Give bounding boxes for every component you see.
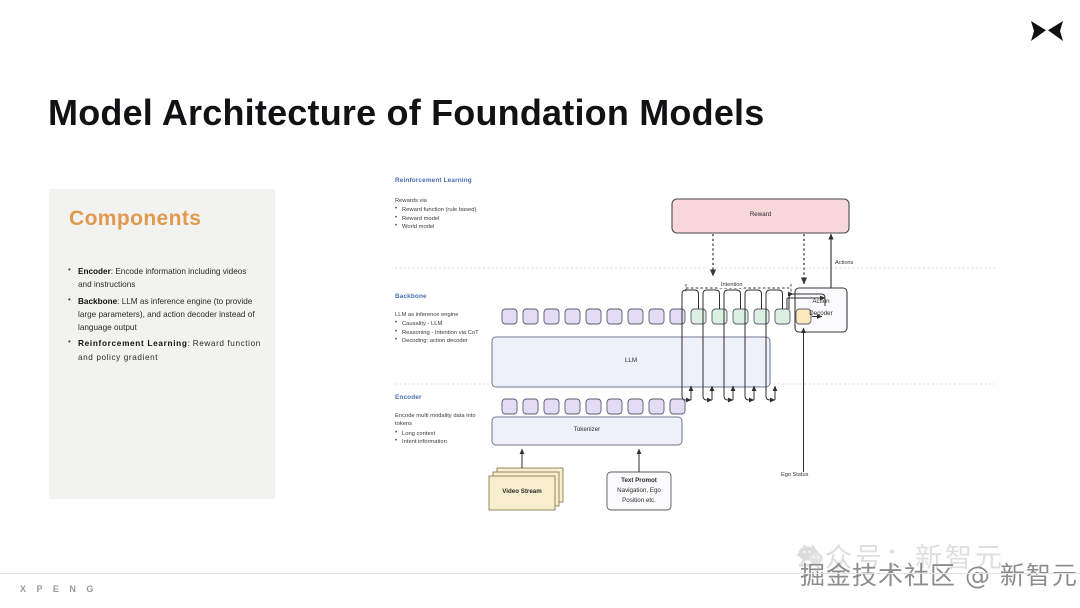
section-label-reinforcement-learning: Reinforcement Learning [395,177,472,184]
token-green-top-2 [712,309,727,324]
token-purple-bottom-8 [649,399,664,414]
rl-bullet-3: World model [395,223,491,231]
components-card: Components Encoder: Encode information i… [49,189,275,499]
reward-box-label: Reward [672,211,849,219]
token-purple-bottom-7 [628,399,643,414]
token-purple-top-6 [607,309,622,324]
token-purple-top-5 [586,309,601,324]
backbone-bullet-2: Reasoning - Intention via CoT [395,329,491,337]
video-stream-label: Video Stream [489,488,555,496]
text-prompt-line1: Navigation, Ego [607,487,671,495]
components-item-encoder: Encoder: Encode information including vi… [67,265,262,292]
backbone-bullet-3: Decoding: action decoder [395,337,491,345]
components-item-reinforcement-learning: Reinforcement Learning: Reward function … [67,337,262,364]
intention-label: Intention [719,282,744,288]
slide-canvas: Model Architecture of Foundation Models … [0,0,1080,608]
rl-bullet-2: Reward model [395,215,491,223]
architecture-diagram: Reinforcement Learning Rewards via Rewar… [395,172,995,524]
ego-status-label: Ego Status [781,472,808,478]
section-label-encoder: Encoder [395,394,422,401]
token-purple-bottom-2 [523,399,538,414]
action-decoder-label-line2: Decoder [795,310,847,318]
encoder-intro: Encode multi modality data into tokens [395,412,491,429]
action-decoder-label-line1: Action [795,298,847,306]
components-item-backbone: Backbone: LLM as inference engine (to pr… [67,295,262,335]
token-green-top-5 [775,309,790,324]
text-prompt-line2: Position etc. [607,497,671,505]
section-body-reinforcement-learning: Rewards via Reward function (rule based)… [395,197,491,232]
rl-intro: Rewards via [395,197,491,205]
token-purple-bottom-9 [670,399,685,414]
section-body-encoder: Encode multi modality data into tokens L… [395,412,491,447]
page-title: Model Architecture of Foundation Models [48,92,764,134]
llm-box-label: LLM [492,357,770,365]
token-green-top-3 [733,309,748,324]
token-purple-top-9 [670,309,685,324]
token-green-top-4 [754,309,769,324]
components-list: Encoder: Encode information including vi… [67,265,262,367]
components-term-backbone: Backbone [78,297,117,306]
token-purple-bottom-1 [502,399,517,414]
section-body-backbone: LLM as inference engine Causality - LLM … [395,311,491,346]
components-heading: Components [69,207,201,231]
section-label-backbone: Backbone [395,293,427,300]
components-term-encoder: Encoder [78,267,111,276]
spacer14 [785,294,791,309]
token-purple-bottom-4 [565,399,580,414]
xpeng-x-logo-icon [1030,18,1064,44]
token-purple-top-8 [649,309,664,324]
encoder-bullet-2: Intent information [395,438,491,446]
watermark-bold: 掘金技术社区 @ 新智元 [800,556,1078,592]
token-purple-bottom-3 [544,399,559,414]
components-term-reinforcement-learning: Reinforcement Learning [78,339,188,348]
backbone-bullet-1: Causality - LLM [395,320,491,328]
xpeng-footer-logo: X P E N G [20,584,97,594]
token-green-top-1 [691,309,706,324]
footer-divider [0,573,1080,574]
token-purple-top-7 [628,309,643,324]
tokenizer-box-label: Tokenizer [492,426,682,434]
text-prompt-title: Text Promot [607,477,671,485]
actions-label: Actions [835,260,853,266]
backbone-intro: LLM as inference engine [395,311,491,319]
token-purple-bottom-5 [586,399,601,414]
rl-bullet-1: Reward function (rule based) [395,206,491,214]
token-purple-top-2 [523,309,538,324]
token-purple-top-4 [565,309,580,324]
token-purple-top-3 [544,309,559,324]
encoder-bullet-1: Long context [395,430,491,438]
token-purple-top-1 [502,309,517,324]
token-purple-bottom-6 [607,399,622,414]
